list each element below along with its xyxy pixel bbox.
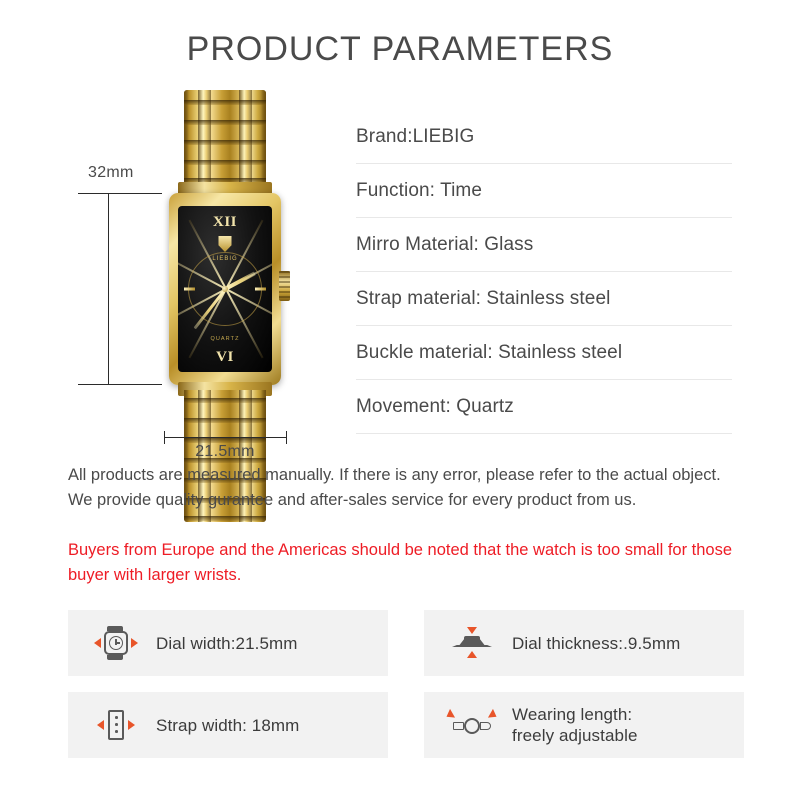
feature-box-wearing-length: Wearing length: freely adjustable [424,692,744,758]
band-link [184,160,266,165]
feature-label-strap-width: Strap width: 18mm [156,715,299,736]
watch-dial: XII VI LIEBIG QUARTZ [178,206,272,372]
dial-bar-marker-nine [184,288,195,291]
dial-movement-text: QUARTZ [178,336,272,342]
strap-width-icon [90,705,142,745]
arrow-left-icon [128,720,135,730]
dial-numeral-twelve: XII [178,214,272,231]
watch-hand-shape [115,642,120,644]
band-link [184,516,266,521]
height-dimension-label: 32mm [88,164,134,182]
strap-hole [115,716,118,719]
spec-row-movement: Movement: Quartz [356,380,732,434]
feature-label-dial-thickness: Dial thickness:.9.5mm [512,633,680,654]
arrow-right-icon [94,638,101,648]
watch-glass-shape [464,636,480,640]
liebig-shield-logo-icon [219,236,232,252]
watch-band-shape [107,626,123,631]
strap-hole [115,730,118,733]
feature-grid: Dial width:21.5mm Dial thickness:.9.5mm … [68,610,744,758]
spec-row-mirror: Mirro Material: Glass [356,218,732,272]
feature-label-wearing-length: Wearing length: freely adjustable [512,704,638,746]
band-link [184,418,266,423]
band-link [184,140,266,145]
width-dimension-cap-right [286,431,287,444]
spec-row-buckle: Buckle material: Stainless steel [356,326,732,380]
spec-row-brand: Brand:LIEBIG [356,110,732,164]
watch-product-image: XII VI LIEBIG QUARTZ [160,90,290,450]
dial-center-cap [222,286,228,292]
warning-text: Buyers from Europe and the Americas shou… [68,538,750,588]
watch-case-round-shape [464,718,480,734]
watch-base-shape [452,645,492,647]
band-link [184,100,266,105]
dial-width-icon [90,623,142,663]
arrow-right-icon [97,720,104,730]
arrow-down-icon [467,627,477,634]
height-dimension-tick-bottom [78,384,162,385]
strap-hole [115,723,118,726]
dial-bar-marker-three [255,288,266,291]
band-link [184,120,266,125]
dial-numeral-six: VI [178,349,272,366]
watch-case: XII VI LIEBIG QUARTZ [169,193,281,385]
product-figure: XII VI LIEBIG QUARTZ [60,90,350,460]
dial-thickness-icon [446,623,498,663]
spec-row-function: Function: Time [356,164,732,218]
feature-box-strap-width: Strap width: 18mm [68,692,388,758]
dial-brand-name: LIEBIG [178,256,272,262]
arrow-expand-right-icon [488,709,499,721]
watch-band-shape [107,655,123,660]
feature-box-dial-width: Dial width:21.5mm [68,610,388,676]
disclaimer-text: All products are measured manually. If t… [68,463,746,513]
arrow-left-icon [131,638,138,648]
strap-right-shape [480,722,491,730]
wearing-length-icon [446,705,498,745]
specification-list: Brand:LIEBIG Function: Time Mirro Materi… [356,110,732,434]
height-dimension-tick-top [78,193,162,194]
watch-crown [279,271,290,301]
watch-band-top [184,90,266,186]
height-dimension-line [108,193,109,385]
arrow-expand-left-icon [444,709,455,721]
arrow-up-icon [467,651,477,658]
width-dimension-line [164,437,286,438]
feature-box-dial-thickness: Dial thickness:.9.5mm [424,610,744,676]
band-link [184,398,266,403]
wearing-length-line-1: Wearing length: [512,704,638,725]
strap-left-shape [453,722,464,730]
page-title: PRODUCT PARAMETERS [0,30,800,69]
wearing-length-line-2: freely adjustable [512,725,638,746]
feature-label-dial-width: Dial width:21.5mm [156,633,298,654]
spec-row-strap: Strap material: Stainless steel [356,272,732,326]
width-dimension-label: 21.5mm [164,443,286,461]
